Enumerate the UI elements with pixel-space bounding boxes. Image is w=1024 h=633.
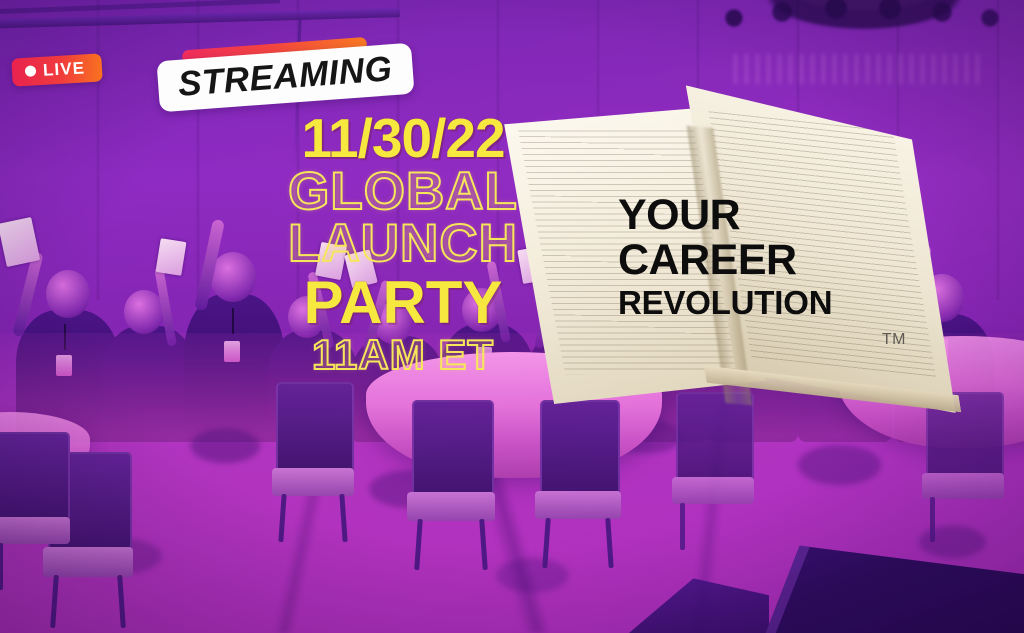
promo-banner: STREAMING LIVE 11/30/22 GLOBAL LAUNCH PA… <box>0 0 1024 633</box>
book-title-line-2: CAREER <box>618 239 888 282</box>
headline-global: GLOBAL <box>258 167 548 218</box>
live-label: LIVE <box>42 59 85 78</box>
event-time: 11AM ET <box>258 335 548 375</box>
open-book-graphic: YOUR CAREER REVOLUTION TM <box>520 62 940 462</box>
live-dot-icon <box>25 65 37 77</box>
book-title: YOUR CAREER REVOLUTION TM <box>618 194 888 319</box>
live-badge: LIVE <box>11 53 103 86</box>
streaming-label: STREAMING <box>177 51 393 102</box>
trademark-symbol: TM <box>882 332 906 348</box>
headline-launch: LAUNCH <box>258 219 548 270</box>
book-title-line-1: YOUR <box>618 194 888 237</box>
book-title-line-3: REVOLUTION <box>618 286 888 319</box>
headline-party: PARTY <box>258 274 548 332</box>
